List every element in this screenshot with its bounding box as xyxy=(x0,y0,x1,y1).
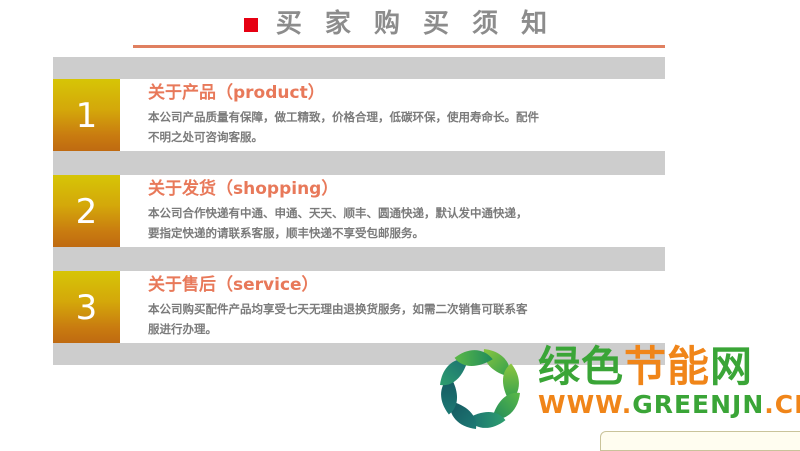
section-text-line: 本公司产品质量有保障，做工精致，价格合理，低碳环保，使用寿命长。配件 xyxy=(148,107,665,127)
section-text-line: 服进行办理。 xyxy=(148,319,665,339)
section-separator-bar xyxy=(53,151,665,175)
title-underline-rule xyxy=(133,45,665,48)
bottom-cream-panel xyxy=(600,431,800,451)
sections-container: 1 关于产品（product） 本公司产品质量有保障，做工精致，价格合理，低碳环… xyxy=(53,57,665,365)
section-number-badge: 3 xyxy=(53,271,120,343)
red-square-bullet-icon xyxy=(244,18,258,32)
section-separator-bar xyxy=(53,57,665,79)
watermark-url-part3: .CN xyxy=(764,390,800,419)
section-row: 2 关于发货（shopping） 本公司合作快递有中通、申通、天天、顺丰、圆通快… xyxy=(53,175,665,247)
section-number-badge: 1 xyxy=(53,79,120,151)
section-separator-bar xyxy=(53,247,665,271)
page-title: 买 家 购 买 须 知 xyxy=(276,11,554,37)
section-body: 关于产品（product） 本公司产品质量有保障，做工精致，价格合理，低碳环保，… xyxy=(120,79,665,151)
section-text-line: 不明之处可咨询客服。 xyxy=(148,127,665,147)
section-heading: 关于售后（service） xyxy=(148,275,665,296)
section-paragraph: 本公司购买配件产品均享受七天无理由退换货服务，如需二次销售可联系客 服进行办理。 xyxy=(148,299,665,339)
section-text-line: 要指定快递的请联系客服，顺丰快递不享受包邮服务。 xyxy=(148,223,665,243)
title-row: 买 家 购 买 须 知 xyxy=(133,6,665,42)
section-body: 关于发货（shopping） 本公司合作快递有中通、申通、天天、顺丰、圆通快递，… xyxy=(120,175,665,247)
watermark-url-part1: WWW. xyxy=(538,390,632,419)
section-heading: 关于产品（product） xyxy=(148,83,665,104)
section-text-line: 本公司购买配件产品均享受七天无理由退换货服务，如需二次销售可联系客 xyxy=(148,299,665,319)
section-number: 2 xyxy=(76,195,98,229)
section-number-badge: 2 xyxy=(53,175,120,247)
section-separator-bar xyxy=(53,343,665,365)
section-number: 1 xyxy=(76,99,98,133)
watermark-url-part2: GREENJN xyxy=(632,390,764,419)
section-row: 1 关于产品（product） 本公司产品质量有保障，做工精致，价格合理，低碳环… xyxy=(53,79,665,151)
section-paragraph: 本公司产品质量有保障，做工精致，价格合理，低碳环保，使用寿命长。配件 不明之处可… xyxy=(148,107,665,147)
watermark-brand-part3: 网 xyxy=(710,342,753,391)
watermark-url: WWW.GREENJN.CN xyxy=(538,392,800,417)
section-row: 3 关于售后（service） 本公司购买配件产品均享受七天无理由退换货服务，如… xyxy=(53,271,665,343)
page-header: 买 家 购 买 须 知 xyxy=(133,6,665,46)
section-text-line: 本公司合作快递有中通、申通、天天、顺丰、圆通快递，默认发中通快递， xyxy=(148,203,665,223)
section-body: 关于售后（service） 本公司购买配件产品均享受七天无理由退换货服务，如需二… xyxy=(120,271,665,343)
section-heading: 关于发货（shopping） xyxy=(148,179,665,200)
section-paragraph: 本公司合作快递有中通、申通、天天、顺丰、圆通快递，默认发中通快递， 要指定快递的… xyxy=(148,203,665,243)
section-number: 3 xyxy=(76,291,98,325)
